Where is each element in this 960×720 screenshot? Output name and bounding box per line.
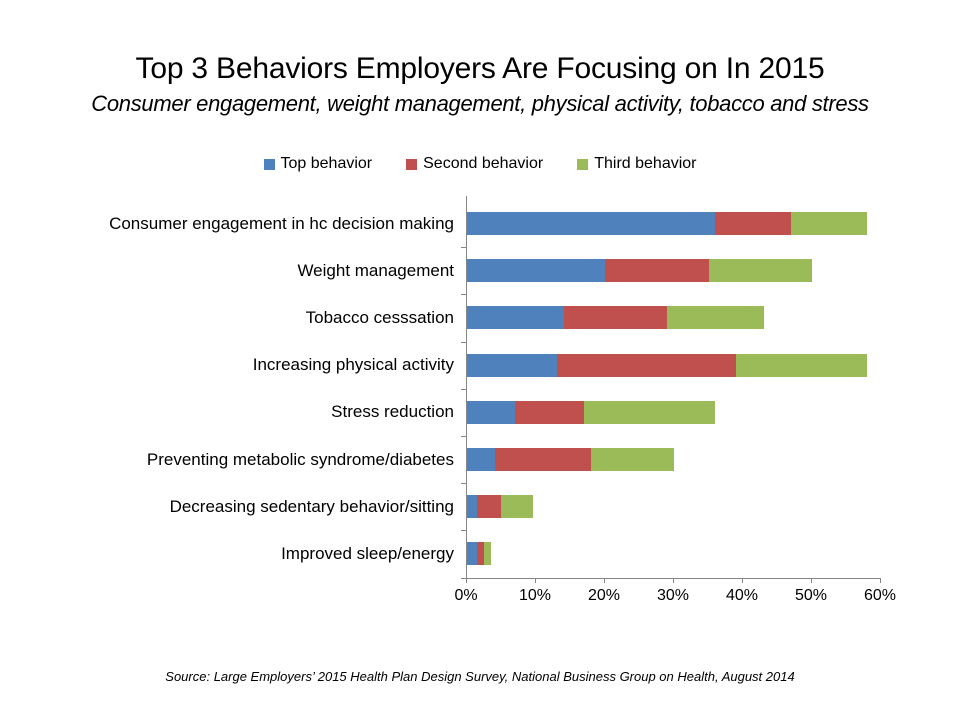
bar-segment-series-3[interactable] bbox=[484, 542, 491, 565]
legend-label: Top behavior bbox=[281, 155, 373, 173]
bar-segment-series-1[interactable] bbox=[467, 495, 477, 518]
value-axis-tick bbox=[880, 578, 881, 583]
value-axis-tick bbox=[673, 578, 674, 583]
legend-entry[interactable]: Third behavior bbox=[577, 155, 696, 173]
stacked-bar-row[interactable] bbox=[467, 212, 867, 235]
category-axis-tick bbox=[461, 294, 466, 295]
bar-segment-series-1[interactable] bbox=[467, 306, 564, 329]
category-label: Improved sleep/energy bbox=[34, 544, 454, 564]
value-axis-line bbox=[466, 196, 467, 578]
bar-segment-series-3[interactable] bbox=[709, 259, 813, 282]
chart-subtitle: Consumer engagement, weight management, … bbox=[0, 91, 960, 117]
bar-segment-series-3[interactable] bbox=[501, 495, 532, 518]
bar-segment-series-3[interactable] bbox=[584, 401, 715, 424]
bar-segment-series-2[interactable] bbox=[515, 401, 584, 424]
stacked-bar-row[interactable] bbox=[467, 448, 674, 471]
bar-segment-series-1[interactable] bbox=[467, 212, 715, 235]
value-axis-label: 0% bbox=[436, 586, 496, 605]
stacked-bar-row[interactable] bbox=[467, 306, 764, 329]
stacked-bar-row[interactable] bbox=[467, 401, 715, 424]
bar-segment-series-1[interactable] bbox=[467, 542, 477, 565]
value-axis-labels: 0%10%20%30%40%50%60% bbox=[466, 586, 906, 610]
bar-segment-series-2[interactable] bbox=[715, 212, 791, 235]
bar-segment-series-2[interactable] bbox=[495, 448, 592, 471]
bar-segment-series-1[interactable] bbox=[467, 401, 515, 424]
category-label: Decreasing sedentary behavior/sitting bbox=[34, 497, 454, 517]
value-axis-label: 10% bbox=[505, 586, 565, 605]
bar-segment-series-1[interactable] bbox=[467, 448, 495, 471]
chart-title: Top 3 Behaviors Employers Are Focusing o… bbox=[0, 52, 960, 86]
value-axis-tick bbox=[604, 578, 605, 583]
category-axis-tick bbox=[461, 389, 466, 390]
legend-entry[interactable]: Second behavior bbox=[406, 155, 543, 173]
value-axis-tick bbox=[742, 578, 743, 583]
bar-segment-series-3[interactable] bbox=[791, 212, 867, 235]
bar-segment-series-2[interactable] bbox=[477, 495, 501, 518]
category-label: Tobacco cesssation bbox=[34, 308, 454, 328]
stacked-bar-row[interactable] bbox=[467, 495, 533, 518]
category-axis-tick bbox=[461, 342, 466, 343]
bar-segment-series-2[interactable] bbox=[564, 306, 668, 329]
square-swatch-icon bbox=[406, 159, 417, 170]
bar-segment-series-2[interactable] bbox=[605, 259, 709, 282]
category-label: Stress reduction bbox=[34, 402, 454, 422]
value-axis-tick bbox=[535, 578, 536, 583]
value-axis-label: 30% bbox=[643, 586, 703, 605]
square-swatch-icon bbox=[264, 159, 275, 170]
square-swatch-icon bbox=[577, 159, 588, 170]
stacked-bar-row[interactable] bbox=[467, 542, 491, 565]
plot-area bbox=[466, 196, 880, 578]
value-axis-label: 40% bbox=[712, 586, 772, 605]
category-axis-tick bbox=[461, 530, 466, 531]
slide-canvas: Top 3 Behaviors Employers Are Focusing o… bbox=[0, 0, 960, 720]
category-axis-tick bbox=[461, 436, 466, 437]
legend-label: Third behavior bbox=[594, 155, 696, 173]
bar-segment-series-3[interactable] bbox=[736, 354, 867, 377]
bar-segment-series-3[interactable] bbox=[591, 448, 674, 471]
stacked-bar-row[interactable] bbox=[467, 259, 812, 282]
value-axis-tick bbox=[811, 578, 812, 583]
category-axis-tick bbox=[461, 483, 466, 484]
bar-segment-series-2[interactable] bbox=[557, 354, 736, 377]
value-axis-label: 50% bbox=[781, 586, 841, 605]
source-note: Source: Large Employers’ 2015 Health Pla… bbox=[0, 669, 960, 685]
bar-segment-series-3[interactable] bbox=[667, 306, 764, 329]
bar-segment-series-1[interactable] bbox=[467, 259, 605, 282]
category-axis-tick bbox=[461, 247, 466, 248]
value-axis-label: 60% bbox=[850, 586, 910, 605]
category-label: Increasing physical activity bbox=[34, 355, 454, 375]
category-label: Preventing metabolic syndrome/diabetes bbox=[34, 450, 454, 470]
stacked-bar-row[interactable] bbox=[467, 354, 867, 377]
category-axis-labels: Consumer engagement in hc decision makin… bbox=[26, 196, 454, 578]
bar-segment-series-1[interactable] bbox=[467, 354, 557, 377]
category-label: Weight management bbox=[34, 261, 454, 281]
bar-segment-series-2[interactable] bbox=[477, 542, 484, 565]
value-axis-label: 20% bbox=[574, 586, 634, 605]
legend-entry[interactable]: Top behavior bbox=[264, 155, 373, 173]
legend-label: Second behavior bbox=[423, 155, 543, 173]
chart-legend: Top behaviorSecond behaviorThird behavio… bbox=[0, 155, 960, 173]
category-label: Consumer engagement in hc decision makin… bbox=[34, 214, 454, 234]
value-axis-tick bbox=[466, 578, 467, 583]
